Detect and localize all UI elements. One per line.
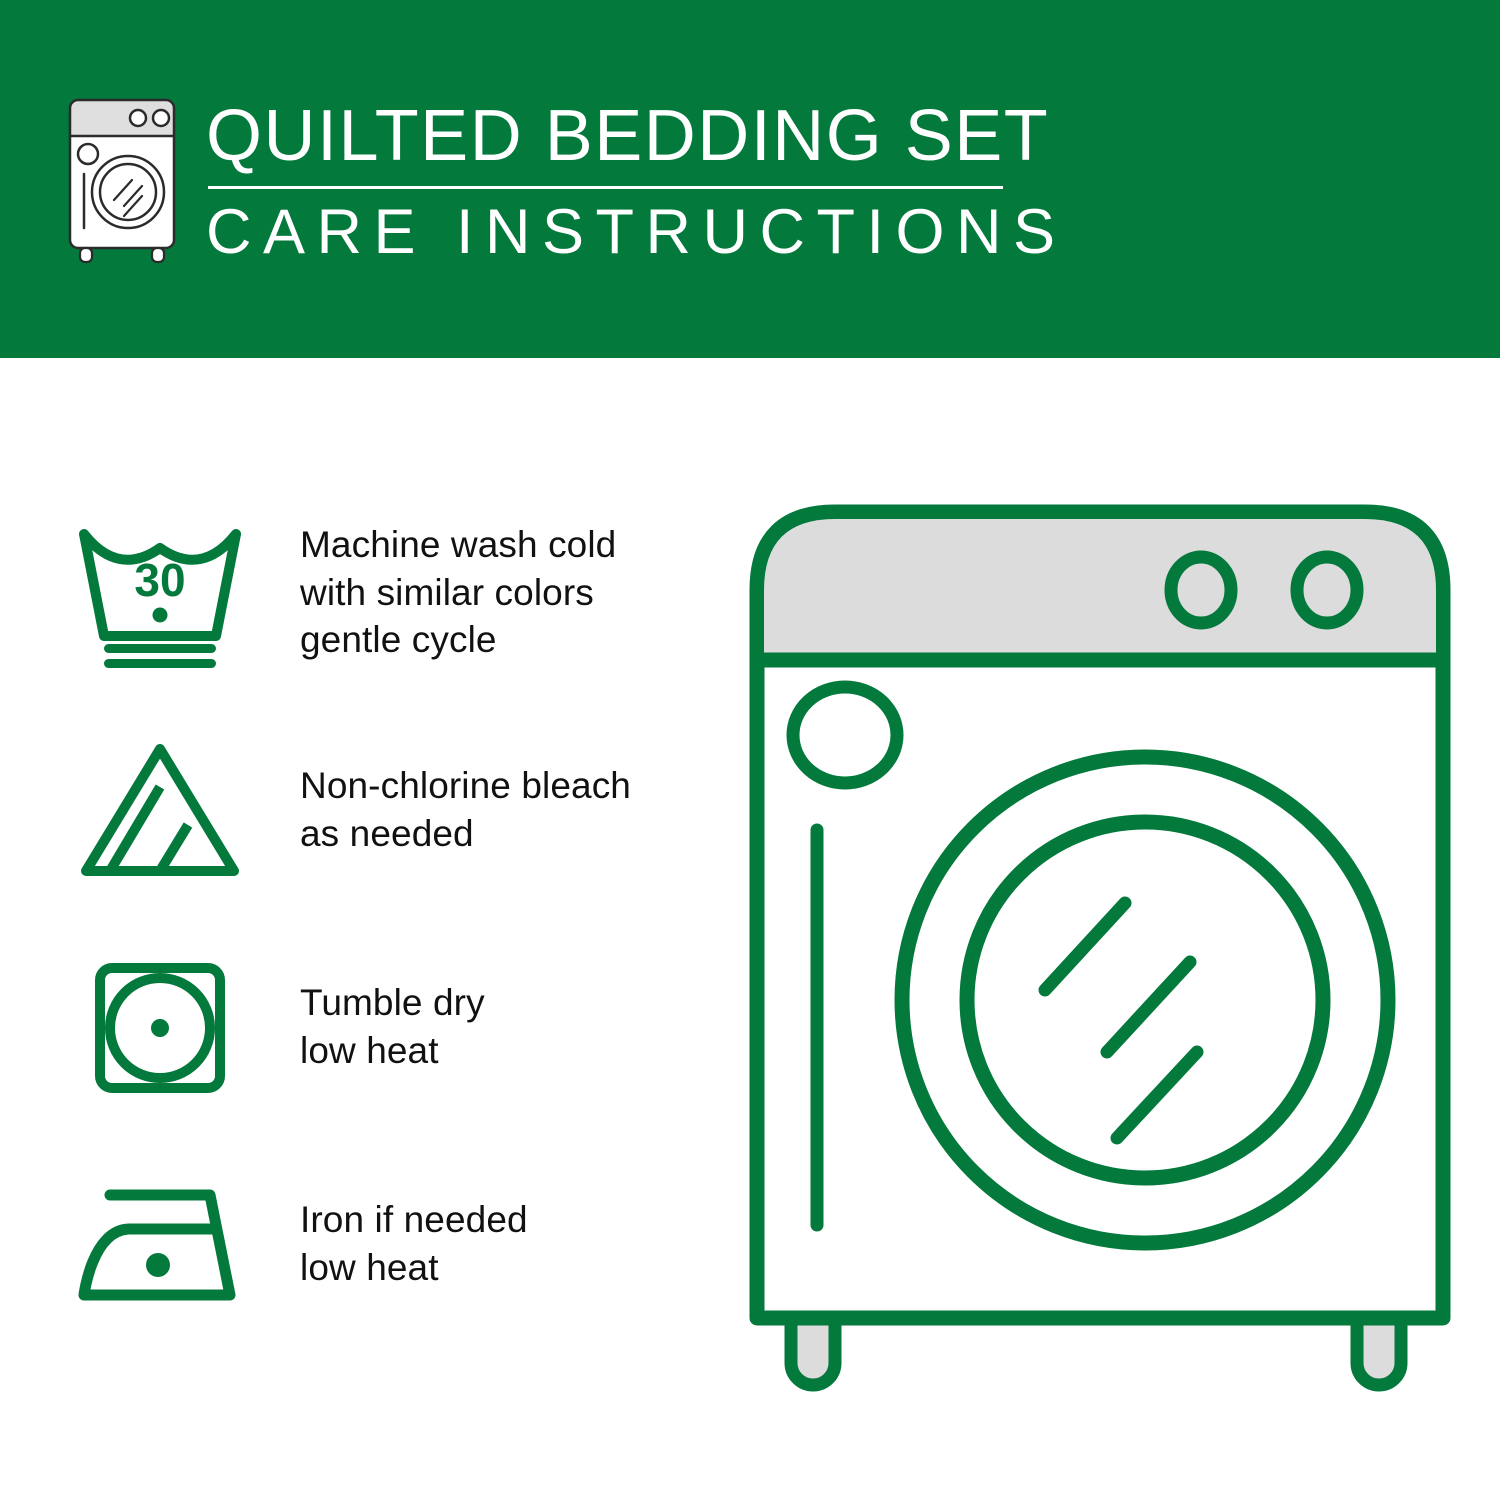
washing-machine-icon (62, 96, 182, 264)
header-title-group: QUILTED BEDDING SET CARE INSTRUCTIONS (206, 96, 1067, 265)
care-instruction-text: Non-chlorine bleach as needed (300, 762, 631, 857)
detergent-dispenser-circle (793, 687, 897, 783)
care-instruction-text: Iron if needed low heat (300, 1196, 528, 1291)
care-text-line: Tumble dry (300, 979, 485, 1026)
care-text-line: gentle cycle (300, 616, 616, 663)
care-symbol-slot: 30 (70, 508, 250, 678)
care-instruction-text: Tumble dry low heat (300, 979, 485, 1074)
list-item: Tumble dry low heat (70, 939, 710, 1114)
wash-basin-30-gentle-icon: 30 (70, 518, 250, 668)
care-text-line: Iron if needed (300, 1196, 528, 1243)
header-content: QUILTED BEDDING SET CARE INSTRUCTIONS (62, 96, 1067, 265)
care-instruction-list: 30 Machine wash cold with similar colors… (70, 505, 710, 1331)
control-knob-1[interactable] (1171, 557, 1231, 623)
list-item: 30 Machine wash cold with similar colors… (70, 505, 710, 680)
care-text-line: low heat (300, 1244, 528, 1291)
care-text-line: low heat (300, 1027, 485, 1074)
tumble-dry-low-heat-icon (70, 952, 250, 1102)
care-text-line: as needed (300, 810, 631, 857)
list-item: Non-chlorine bleach as needed (70, 722, 710, 897)
care-instruction-text: Machine wash cold with similar colors ge… (300, 521, 616, 663)
washing-machine-illustration (735, 490, 1465, 1420)
page-title: QUILTED BEDDING SET (206, 100, 1067, 172)
wash-temperature-label: 30 (134, 554, 185, 606)
care-symbol-slot (70, 942, 250, 1112)
care-text-line: Non-chlorine bleach (300, 762, 631, 809)
washer-door-inner-ring (967, 822, 1323, 1178)
care-symbol-slot (70, 1159, 250, 1329)
control-knob-2[interactable] (1297, 557, 1357, 623)
header-banner: QUILTED BEDDING SET CARE INSTRUCTIONS (0, 0, 1500, 358)
title-divider (208, 186, 1003, 189)
page-subtitle: CARE INSTRUCTIONS (206, 199, 1067, 265)
non-chlorine-bleach-triangle-icon (70, 735, 250, 885)
care-instructions-page: QUILTED BEDDING SET CARE INSTRUCTIONS 30 (0, 0, 1500, 1500)
care-symbol-slot (70, 725, 250, 895)
list-item: Iron if needed low heat (70, 1156, 710, 1331)
care-text-line: with similar colors (300, 569, 616, 616)
care-text-line: Machine wash cold (300, 521, 616, 568)
iron-low-heat-icon (70, 1169, 250, 1319)
